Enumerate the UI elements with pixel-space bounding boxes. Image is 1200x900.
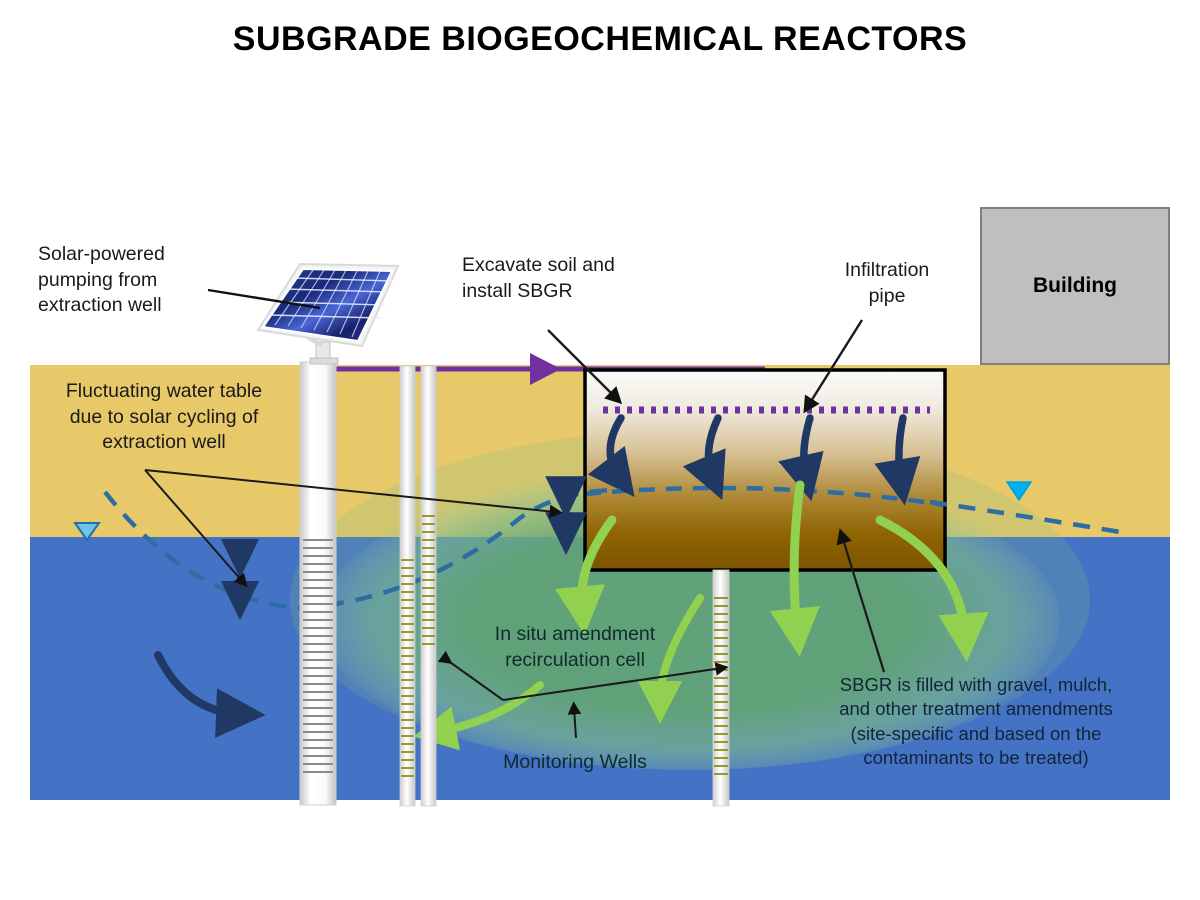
label-sbgr-fill: SBGR is filled with gravel, mulch, and o… xyxy=(790,673,1162,771)
monitoring-well-3 xyxy=(713,570,729,806)
label-excavate-install: Excavate soil and install SBGR xyxy=(462,253,682,304)
label-recirculation-cell: In situ amendment recirculation cell xyxy=(450,622,700,673)
solar-panel-icon xyxy=(258,264,398,364)
sbgr-box xyxy=(585,370,945,570)
extraction-well xyxy=(300,362,336,805)
label-monitoring-wells: Monitoring Wells xyxy=(450,750,700,776)
label-solar-pumping: Solar-powered pumping from extraction we… xyxy=(38,242,218,319)
monitoring-well-2 xyxy=(421,366,436,806)
monitoring-well-1 xyxy=(400,366,415,806)
label-fluctuating-water-table: Fluctuating water table due to solar cyc… xyxy=(36,379,292,456)
label-infiltration-pipe: Infiltration pipe xyxy=(812,258,962,309)
